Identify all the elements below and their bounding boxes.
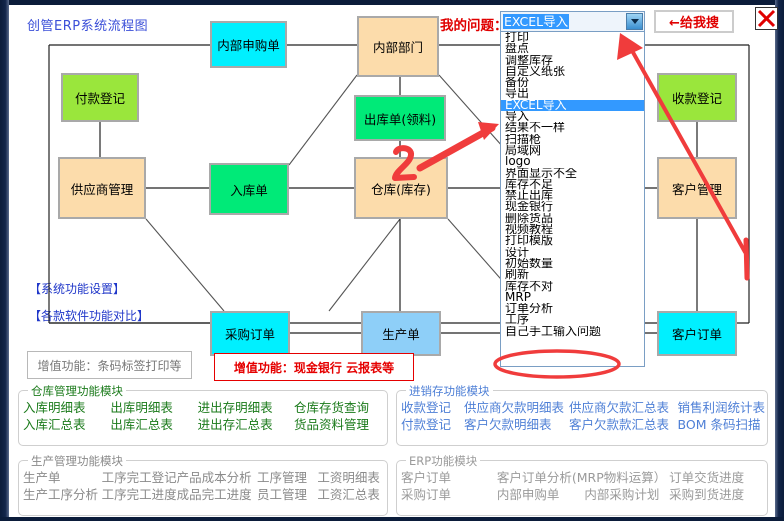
value-box-cash-bank-cloud: 增值功能：现金银行 云报表等 [214,353,414,381]
dropdown-option[interactable]: 删除货品 [501,213,644,224]
value-box-label: 增值功能：现金银行 云报表等 [234,359,394,376]
node-customer-management[interactable]: 客户管理 [657,157,737,219]
chevron-down-icon[interactable] [626,13,643,30]
node-label: 收款登记 [672,88,722,107]
dropdown-option[interactable]: 自己手工输入问题 [501,326,644,337]
dropdown-option[interactable]: 盘点 [501,43,644,54]
panel-legend: ERP功能模块 [406,453,480,469]
dropdown-option[interactable]: 导出 [501,88,644,99]
module-item[interactable]: 客户欠款款汇总表 [569,416,678,433]
search-button[interactable]: ←给我搜 [654,10,734,33]
module-row: 入库汇总表出库汇总表进出存汇总表货品资料管理 [23,416,385,433]
dropdown-option[interactable]: MRP [501,292,644,303]
module-row: 收款登记供应商欠款明细表供应商欠款汇总表销售利润统计表 [401,399,765,416]
dropdown-option[interactable]: logo [501,156,644,167]
value-box-barcode-print: 增值功能：条码标签打印等 [27,351,192,379]
dropdown-option[interactable]: 订单分析 [501,303,644,314]
module-item[interactable]: 出库明细表 [110,399,197,416]
module-item[interactable]: 进出存明细表 [198,399,294,416]
dropdown-option[interactable]: 局域网 [501,145,644,156]
module-item[interactable]: 客户订单 [401,469,497,486]
dropdown-option[interactable]: 现金银行 [501,201,644,212]
question-combobox[interactable]: EXCEL导入 [500,11,645,32]
module-item[interactable]: 货品资料管理 [294,416,385,433]
node-label: 客户管理 [672,179,722,198]
dropdown-option[interactable]: 打印 [501,32,644,43]
module-item[interactable]: 客户欠款明细表 [464,416,569,433]
module-item[interactable]: 成品完工进度 [177,486,257,503]
dropdown-option[interactable]: EXCEL导入 [501,100,644,111]
node-label: 入库单 [230,180,268,199]
node-internal-department[interactable]: 内部部门 [357,16,439,77]
node-customer-order[interactable]: 客户订单 [657,311,737,356]
dropdown-option[interactable]: 导入 [501,111,644,122]
node-warehouse-stock[interactable]: 仓库(库存) [354,157,448,219]
node-inbound-order[interactable]: 入库单 [209,163,289,215]
dropdown-option[interactable]: 库存不足 [501,179,644,190]
module-item[interactable]: 供应商欠款明细表 [464,399,569,416]
module-item[interactable]: 订单交货进度 [669,469,765,486]
module-item[interactable]: 入库汇总表 [23,416,110,433]
dropdown-option[interactable]: 初始数量 [501,258,644,269]
dropdown-option[interactable]: 刷新 [501,269,644,280]
panel-rows: 收款登记供应商欠款明细表供应商欠款汇总表销售利润统计表付款登记客户欠款明细表客户… [401,399,765,433]
dropdown-option[interactable]: 工序 [501,314,644,325]
close-icon[interactable] [755,7,778,30]
dropdown-option[interactable]: 界面显示不全 [501,168,644,179]
panel-production-module: 生产管理功能模块 生产单工序完工登记产品成本分析工序管理工资明细表生产工序分析工… [18,460,388,516]
dropdown-option[interactable]: 视频教程 [501,224,644,235]
node-purchase-order[interactable]: 采购订单 [210,311,290,356]
node-supplier-management[interactable]: 供应商管理 [58,157,146,219]
dropdown-option[interactable]: 自定义纸张 [501,66,644,77]
module-row: 入库明细表出库明细表进出存明细表仓库存货查询 [23,399,385,416]
window-edge-left [0,0,9,521]
panel-rows: 入库明细表出库明细表进出存明细表仓库存货查询入库汇总表出库汇总表进出存汇总表货品… [23,399,385,433]
node-label: 采购订单 [225,324,275,343]
panel-warehouse-module: 仓库管理功能模块 入库明细表出库明细表进出存明细表仓库存货查询入库汇总表出库汇总… [18,390,388,446]
combobox-selected-value: EXCEL导入 [503,14,569,29]
module-item[interactable]: 工序管理 [257,469,317,486]
panel-erp-function-module: ERP功能模块 客户订单客户订单分析(MRP物料运算）订单交货进度采购订单内部申… [396,460,768,516]
module-item[interactable]: 工资汇总表 [317,486,385,503]
node-label: 内部部门 [373,37,423,56]
erp-flowchart-window: 创管ERP系统流程图 【系统功能设置】 【各款软件功能对比】 内部申购单 内部部… [0,0,784,521]
dropdown-option[interactable]: 禁止出库 [501,190,644,201]
node-label: 内部申购单 [217,35,280,54]
node-internal-requisition[interactable]: 内部申购单 [210,21,287,68]
module-item[interactable]: 进出存汇总表 [198,416,294,433]
module-item[interactable]: 出库汇总表 [110,416,197,433]
question-dropdown-list[interactable]: 打印盘点调整库存自定义纸张备份导出EXCEL导入导入结果不一样扫描枪局域网log… [500,32,645,367]
dropdown-option[interactable]: 扫描枪 [501,134,644,145]
module-item[interactable]: 工资明细表 [317,469,385,486]
flowchart-canvas: 创管ERP系统流程图 【系统功能设置】 【各款软件功能对比】 内部申购单 内部部… [9,5,775,380]
value-box-label: 增值功能：条码标签打印等 [37,357,181,374]
panel-legend: 仓库管理功能模块 [28,383,126,399]
panel-rows: 生产单工序完工登记产品成本分析工序管理工资明细表生产工序分析工序完工进度成品完工… [23,469,385,503]
module-item[interactable]: 供应商欠款汇总表 [569,399,678,416]
node-label: 仓库(库存) [371,179,431,198]
window-edge-bottom [0,517,784,521]
node-label: 供应商管理 [71,179,134,198]
module-item[interactable]: 客户订单分析(MRP物料运算） [497,469,669,486]
dropdown-option[interactable]: 库存不对 [501,281,644,292]
module-item[interactable]: 采购订单 [401,486,497,503]
panel-erp-inventory-module: 进销存功能模块 收款登记供应商欠款明细表供应商欠款汇总表销售利润统计表付款登记客… [396,390,768,446]
module-item[interactable]: 内部申购单 内部采购计划 [497,486,669,503]
module-item[interactable]: 生产工序分析 [23,486,102,503]
node-receipt-register[interactable]: 收款登记 [657,73,737,122]
panel-legend: 进销存功能模块 [406,383,493,399]
module-item[interactable]: BOM 条码扫描 [678,416,766,433]
module-item[interactable]: 仓库存货查询 [294,399,385,416]
dropdown-option[interactable]: 打印模版 [501,235,644,246]
node-outbound-order[interactable]: 出库单(领料) [354,95,446,141]
module-row: 生产工序分析工序完工进度成品完工进度员工管理工资汇总表 [23,486,385,503]
module-item[interactable]: 付款登记 [401,416,464,433]
dropdown-option[interactable]: 备份 [501,77,644,88]
panel-legend: 生产管理功能模块 [28,453,126,469]
module-item[interactable]: 产品成本分析 [177,469,257,486]
module-item[interactable]: 生产单 [23,469,102,486]
module-item[interactable]: 工序完工进度 [102,486,177,503]
node-label: 出库单(领料) [364,109,436,128]
window-edge-right [775,0,784,521]
node-payment-register[interactable]: 付款登记 [61,73,139,122]
module-item[interactable]: 工序完工登记 [102,469,177,486]
module-item[interactable]: 入库明细表 [23,399,110,416]
node-label: 客户订单 [672,324,722,343]
dropdown-option[interactable]: 调整库存 [501,55,644,66]
question-label: 我的问题： [440,14,508,34]
module-item[interactable]: 销售利润统计表 [678,399,766,416]
module-item[interactable]: 员工管理 [257,486,317,503]
dropdown-option[interactable]: 设计 [501,247,644,258]
dropdown-option[interactable]: 结果不一样 [501,122,644,133]
module-item[interactable]: 采购到货进度 [669,486,765,503]
module-row: 采购订单内部申购单 内部采购计划采购到货进度 [401,486,765,503]
panel-rows: 客户订单客户订单分析(MRP物料运算）订单交货进度采购订单内部申购单 内部采购计… [401,469,765,503]
module-row: 生产单工序完工登记产品成本分析工序管理工资明细表 [23,469,385,486]
node-production-order[interactable]: 生产单 [361,311,441,356]
module-item[interactable]: 收款登记 [401,399,464,416]
node-label: 付款登记 [75,88,125,107]
module-row: 付款登记客户欠款明细表客户欠款款汇总表BOM 条码扫描 [401,416,765,433]
node-label: 生产单 [382,324,420,343]
module-row: 客户订单客户订单分析(MRP物料运算）订单交货进度 [401,469,765,486]
